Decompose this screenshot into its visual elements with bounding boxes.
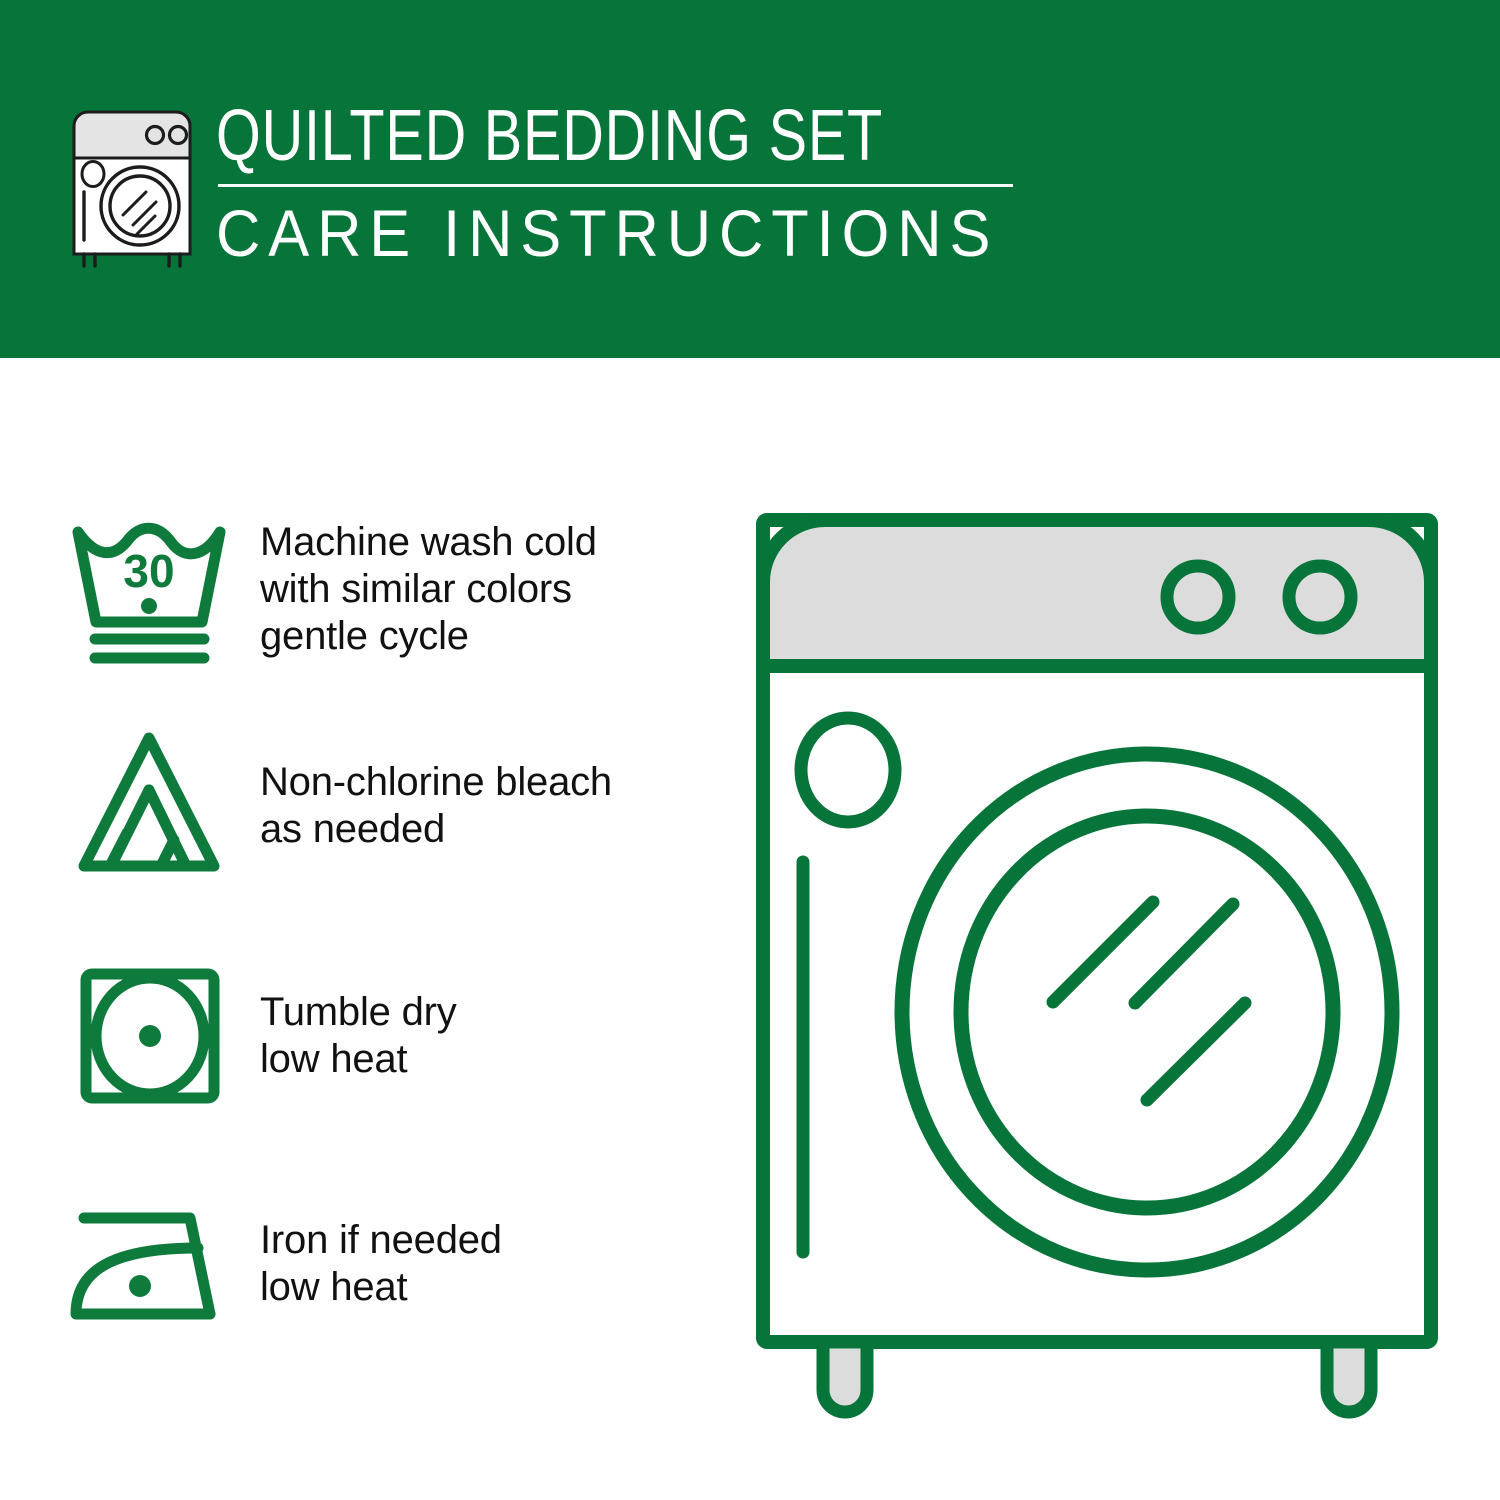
care-item-bleach: Non-chlorine bleach as needed <box>0 718 720 893</box>
header-content: QUILTED BEDDING SET CARE INSTRUCTIONS <box>62 94 1057 270</box>
care-item-label: Machine wash cold with similar colors ge… <box>260 519 597 660</box>
washing-machine-icon <box>62 98 202 270</box>
care-item-iron: Iron if needed low heat <box>0 1176 720 1351</box>
wash-temperature-value: 30 <box>123 545 174 597</box>
page-title: QUILTED BEDDING SET <box>216 96 889 176</box>
leg-right <box>1327 1342 1371 1412</box>
control-panel <box>763 520 1431 666</box>
iron-low-heat-icon <box>62 1176 237 1351</box>
care-item-label: Iron if needed low heat <box>260 1217 502 1311</box>
header-text-block: QUILTED BEDDING SET CARE INSTRUCTIONS <box>216 94 1057 269</box>
leg-left <box>823 1342 867 1412</box>
care-item-label: Tumble dry low heat <box>260 989 457 1083</box>
care-item-tumble-dry: Tumble dry low heat <box>0 948 720 1123</box>
care-instruction-list: 30 Machine wash cold with similar colors… <box>0 358 720 1500</box>
care-item-machine-wash: 30 Machine wash cold with similar colors… <box>0 502 720 677</box>
front-load-washing-machine-illustration <box>735 490 1465 1440</box>
care-item-label: Non-chlorine bleach as needed <box>260 759 612 853</box>
wash-tub-30-icon: 30 <box>62 502 237 677</box>
section-subtitle: CARE INSTRUCTIONS <box>216 197 998 269</box>
header-band: QUILTED BEDDING SET CARE INSTRUCTIONS <box>0 0 1500 358</box>
tumble-dry-low-heat-icon <box>62 948 237 1123</box>
non-chlorine-bleach-triangle-icon <box>62 718 237 893</box>
title-divider <box>218 184 1013 187</box>
